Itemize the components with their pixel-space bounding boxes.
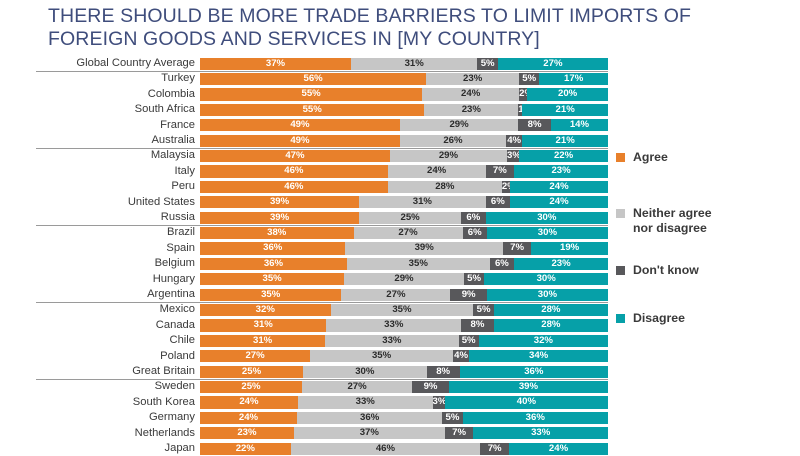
chart-segment-value: 23% [426, 73, 519, 85]
chart-segment-disagree: 22% [519, 150, 608, 162]
chart-segment-value: 37% [294, 427, 445, 439]
chart-segment-disagree: 24% [510, 181, 608, 193]
chart-segment-value: 24% [510, 181, 608, 193]
chart-segment-dontknow: 6% [463, 227, 487, 239]
chart-segment-disagree: 21% [522, 104, 608, 116]
chart-segment-value: 29% [344, 273, 464, 285]
chart-bar-track: 35%29%5%30% [200, 273, 608, 285]
chart-segment-value: 35% [200, 273, 344, 285]
chart-row-label: Sweden [40, 379, 195, 394]
chart-segment-value: 33% [326, 319, 461, 331]
chart-segment-value: 31% [359, 196, 485, 208]
chart-segment-value: 33% [473, 427, 608, 439]
chart-segment-agree: 47% [200, 150, 390, 162]
chart-segment-agree: 25% [200, 366, 303, 378]
chart-segment-neither: 29% [344, 273, 464, 285]
chart-segment-value: 30% [303, 366, 427, 378]
legend-item[interactable]: Disagree [616, 311, 685, 326]
chart-segment-value: 6% [486, 196, 510, 208]
chart-segment-value: 49% [200, 135, 400, 147]
chart-row: Colombia55%24%2%20% [0, 87, 620, 102]
chart-segment-value: 28% [494, 304, 608, 316]
chart-row: Spain36%39%7%19% [0, 241, 620, 256]
chart-segment-value: 24% [422, 88, 519, 100]
chart-bar-track: 46%24%7%23% [200, 165, 608, 177]
legend-item-label: Don't know [633, 263, 699, 278]
chart-segment-value: 31% [200, 319, 326, 331]
legend-swatch-disagree [616, 314, 625, 323]
chart-segment-value: 46% [200, 181, 388, 193]
chart-bar-track: 36%35%6%23% [200, 258, 608, 270]
chart-segment-value: 23% [514, 165, 608, 177]
chart-segment-value: 46% [200, 165, 388, 177]
chart-segment-value: 49% [200, 119, 400, 131]
chart-segment-agree: 35% [200, 273, 344, 285]
chart-segment-disagree: 28% [494, 319, 608, 331]
chart-bar-track: 38%27%6%30% [200, 227, 608, 239]
chart-row: Poland27%35%4%34% [0, 349, 620, 364]
chart-segment-disagree: 34% [469, 350, 608, 362]
chart-segment-disagree: 14% [551, 119, 608, 131]
chart-row-label: Brazil [40, 225, 195, 240]
chart-segment-value: 2% [519, 88, 527, 100]
chart-segment-disagree: 36% [460, 366, 608, 378]
chart-segment-neither: 35% [310, 350, 453, 362]
chart-segment-dontknow: 5% [519, 73, 539, 85]
chart-segment-neither: 29% [400, 119, 518, 131]
legend-item-label: Neither agree nor disagree [633, 206, 712, 235]
chart-segment-disagree: 33% [473, 427, 608, 439]
chart-bar-track: 22%46%7%24% [200, 443, 608, 455]
chart-segment-agree: 24% [200, 396, 298, 408]
chart-row: Mexico32%35%5%28% [0, 302, 620, 317]
chart-segment-value: 6% [463, 227, 487, 239]
chart-row: Sweden25%27%9%39% [0, 379, 620, 394]
chart-segment-agree: 35% [200, 289, 341, 301]
chart-bar-track: 37%31%5%27% [200, 58, 608, 70]
chart-segment-neither: 24% [388, 165, 486, 177]
chart-segment-value: 32% [479, 335, 608, 347]
legend-item-label: Disagree [633, 311, 685, 326]
chart-segment-neither: 36% [297, 412, 442, 424]
chart-bar-track: 32%35%5%28% [200, 304, 608, 316]
chart-segment-dontknow: 2% [519, 88, 527, 100]
chart-segment-value: 37% [200, 58, 351, 70]
chart-segment-disagree: 30% [487, 289, 608, 301]
chart-segment-value: 36% [463, 412, 608, 424]
chart-segment-value: 55% [200, 104, 424, 116]
chart-segment-disagree: 21% [522, 135, 608, 147]
chart-segment-disagree: 20% [527, 88, 608, 100]
chart-segment-dontknow: 8% [518, 119, 551, 131]
chart-bar-track: 25%30%8%36% [200, 366, 608, 378]
chart-segment-value: 35% [310, 350, 453, 362]
chart-row: Russia39%25%6%30% [0, 210, 620, 225]
chart-segment-value: 5% [519, 73, 539, 85]
chart-segment-value: 39% [200, 196, 359, 208]
chart-row-label: Russia [40, 210, 195, 225]
chart-row-label: Hungary [40, 272, 195, 287]
chart-row-label: South Korea [40, 395, 195, 410]
chart-segment-value: 2% [502, 181, 510, 193]
chart-segment-value: 33% [325, 335, 458, 347]
chart-segment-disagree: 28% [494, 304, 608, 316]
chart-row-label: Japan [40, 441, 195, 456]
chart-segment-value: 28% [494, 319, 608, 331]
legend-swatch-neither [616, 209, 625, 218]
chart-segment-neither: 23% [426, 73, 519, 85]
chart-segment-dontknow: 7% [503, 242, 531, 254]
chart-segment-value: 23% [424, 104, 518, 116]
chart-segment-value: 35% [331, 304, 474, 316]
chart-segment-value: 6% [461, 212, 485, 224]
chart-segment-neither: 27% [341, 289, 450, 301]
chart-segment-value: 39% [449, 381, 608, 393]
chart-segment-value: 28% [388, 181, 502, 193]
chart-segment-neither: 46% [291, 443, 481, 455]
chart-segment-value: 25% [200, 366, 303, 378]
chart-segment-neither: 35% [347, 258, 490, 270]
chart-segment-agree: 36% [200, 258, 347, 270]
chart-segment-value: 30% [486, 212, 608, 224]
chart-segment-value: 39% [200, 212, 359, 224]
chart-segment-disagree: 32% [479, 335, 608, 347]
chart-row: Argentina35%27%9%30% [0, 287, 620, 302]
chart-segment-dontknow: 5% [473, 304, 493, 316]
chart-segment-agree: 27% [200, 350, 310, 362]
chart-row: Turkey56%23%5%17% [0, 71, 620, 86]
chart-row: Hungary35%29%5%30% [0, 272, 620, 287]
chart-segment-value: 24% [200, 412, 297, 424]
chart-segment-dontknow: 3% [507, 150, 519, 162]
chart-segment-dontknow: 5% [459, 335, 479, 347]
chart-segment-dontknow: 8% [461, 319, 494, 331]
chart-segment-neither: 27% [354, 227, 463, 239]
chart-segment-value: 36% [200, 242, 345, 254]
chart-segment-value: 27% [302, 381, 412, 393]
chart-bar-track: 49%29%8%14% [200, 119, 608, 131]
chart-segment-neither: 37% [294, 427, 445, 439]
chart-segment-value: 8% [427, 366, 460, 378]
chart-row: Belgium36%35%6%23% [0, 256, 620, 271]
chart-row: Malaysia47%29%3%22% [0, 148, 620, 163]
chart-segment-agree: 49% [200, 119, 400, 131]
chart-segment-value: 25% [359, 212, 461, 224]
chart-row: Peru46%28%2%24% [0, 179, 620, 194]
chart-segment-dontknow: 2% [502, 181, 510, 193]
chart-row: France49%29%8%14% [0, 118, 620, 133]
chart-row-label: Netherlands [40, 426, 195, 441]
chart-row-label: Argentina [40, 287, 195, 302]
chart-segment-value: 38% [200, 227, 354, 239]
chart-row: South Africa55%23%1%21% [0, 102, 620, 117]
chart-segment-disagree: 36% [463, 412, 608, 424]
chart-row-label: France [40, 118, 195, 133]
chart-segment-value: 35% [347, 258, 490, 270]
chart-row-label: Peru [40, 179, 195, 194]
chart-row: Italy46%24%7%23% [0, 164, 620, 179]
chart-segment-value: 5% [477, 58, 497, 70]
chart-root: THERE SHOULD BE MORE TRADE BARRIERS TO L… [0, 0, 800, 450]
chart-segment-value: 26% [400, 135, 506, 147]
chart-segment-neither: 30% [303, 366, 427, 378]
legend-swatch-dontknow [616, 266, 625, 275]
chart-segment-dontknow: 6% [461, 212, 485, 224]
chart-row: Brazil38%27%6%30% [0, 225, 620, 240]
chart-row-label: Belgium [40, 256, 195, 271]
chart-row-label: Colombia [40, 87, 195, 102]
chart-segment-neither: 24% [422, 88, 519, 100]
chart-row: Canada31%33%8%28% [0, 318, 620, 333]
chart-segment-disagree: 23% [514, 165, 608, 177]
chart-segment-value: 36% [200, 258, 347, 270]
chart-segment-agree: 39% [200, 196, 359, 208]
chart-segment-value: 19% [531, 242, 608, 254]
chart-segment-value: 40% [445, 396, 608, 408]
chart-segment-neither: 29% [390, 150, 507, 162]
chart-segment-value: 21% [522, 135, 608, 147]
chart-segment-neither: 31% [359, 196, 485, 208]
chart-row: South Korea24%33%3%40% [0, 395, 620, 410]
chart-segment-agree: 37% [200, 58, 351, 70]
chart-segment-dontknow: 6% [490, 258, 514, 270]
chart-segment-neither: 33% [325, 335, 458, 347]
chart-segment-value: 27% [200, 350, 310, 362]
chart-bar-track: 31%33%8%28% [200, 319, 608, 331]
chart-segment-disagree: 24% [510, 196, 608, 208]
chart-segment-value: 23% [514, 258, 608, 270]
chart-segment-value: 23% [200, 427, 294, 439]
chart-segment-value: 5% [464, 273, 485, 285]
chart-bar-track: 36%39%7%19% [200, 242, 608, 254]
chart-segment-value: 29% [400, 119, 518, 131]
chart-segment-disagree: 30% [487, 227, 608, 239]
chart-segment-agree: 38% [200, 227, 354, 239]
chart-segment-agree: 46% [200, 165, 388, 177]
chart-segment-disagree: 17% [539, 73, 608, 85]
chart-row: Australia49%26%4%21% [0, 133, 620, 148]
chart-row: Japan22%46%7%24% [0, 441, 620, 456]
legend-item[interactable]: Agree [616, 150, 668, 165]
chart-row: United States39%31%6%24% [0, 195, 620, 210]
legend-item[interactable]: Don't know [616, 263, 699, 278]
chart-segment-disagree: 19% [531, 242, 608, 254]
chart-row-label: United States [40, 195, 195, 210]
chart-segment-value: 31% [351, 58, 477, 70]
chart-segment-dontknow: 7% [480, 443, 509, 455]
chart-bar-track: 46%28%2%24% [200, 181, 608, 193]
chart-segment-neither: 35% [331, 304, 474, 316]
chart-segment-value: 8% [461, 319, 494, 331]
chart-row-label: Great Britain [40, 364, 195, 379]
chart-segment-dontknow: 7% [445, 427, 474, 439]
chart-segment-value: 36% [460, 366, 608, 378]
chart-segment-value: 30% [484, 273, 608, 285]
chart-segment-dontknow: 7% [486, 165, 515, 177]
chart-bar-track: 31%33%5%32% [200, 335, 608, 347]
chart-segment-value: 3% [507, 150, 519, 162]
chart-segment-disagree: 30% [484, 273, 608, 285]
chart-segment-disagree: 40% [445, 396, 608, 408]
chart-segment-value: 25% [200, 381, 302, 393]
chart-segment-value: 36% [297, 412, 442, 424]
chart-segment-value: 46% [291, 443, 481, 455]
chart-segment-disagree: 39% [449, 381, 608, 393]
chart-segment-agree: 32% [200, 304, 331, 316]
chart-row-label: Australia [40, 133, 195, 148]
chart-segment-agree: 31% [200, 335, 325, 347]
chart-segment-value: 4% [506, 135, 522, 147]
chart-segment-value: 6% [490, 258, 514, 270]
chart-segment-dontknow: 9% [412, 381, 449, 393]
chart-row: Great Britain25%30%8%36% [0, 364, 620, 379]
chart-bar-track: 47%29%3%22% [200, 150, 608, 162]
chart-row-label: Italy [40, 164, 195, 179]
chart-row-label: South Africa [40, 102, 195, 117]
chart-row: Germany24%36%5%36% [0, 410, 620, 425]
chart-plot-area: Global Country Average37%31%5%27%Turkey5… [0, 56, 620, 444]
chart-row-label: Chile [40, 333, 195, 348]
chart-row: Chile31%33%5%32% [0, 333, 620, 348]
chart-segment-value: 7% [445, 427, 474, 439]
chart-segment-agree: 55% [200, 88, 422, 100]
chart-segment-value: 24% [509, 443, 608, 455]
chart-segment-value: 34% [469, 350, 608, 362]
chart-segment-agree: 46% [200, 181, 388, 193]
chart-bar-track: 39%25%6%30% [200, 212, 608, 224]
chart-segment-value: 32% [200, 304, 331, 316]
chart-segment-value: 20% [527, 88, 608, 100]
chart-segment-value: 3% [433, 396, 445, 408]
chart-segment-value: 30% [487, 227, 608, 239]
chart-row-label: Poland [40, 349, 195, 364]
chart-segment-value: 30% [487, 289, 608, 301]
chart-segment-value: 27% [498, 58, 608, 70]
chart-segment-value: 5% [459, 335, 479, 347]
chart-segment-dontknow: 4% [506, 135, 522, 147]
legend-swatch-agree [616, 153, 625, 162]
chart-bar-track: 56%23%5%17% [200, 73, 608, 85]
chart-row-label: Global Country Average [40, 56, 195, 71]
chart-row-label: Turkey [40, 71, 195, 86]
chart-segment-value: 17% [539, 73, 608, 85]
chart-segment-disagree: 27% [498, 58, 608, 70]
chart-segment-agree: 22% [200, 443, 291, 455]
chart-segment-disagree: 30% [486, 212, 608, 224]
chart-segment-value: 27% [354, 227, 463, 239]
chart-segment-dontknow: 5% [442, 412, 462, 424]
chart-segment-agree: 31% [200, 319, 326, 331]
chart-segment-value: 5% [442, 412, 462, 424]
chart-segment-value: 8% [518, 119, 551, 131]
chart-bar-track: 35%27%9%30% [200, 289, 608, 301]
chart-segment-disagree: 24% [509, 443, 608, 455]
chart-bar-track: 39%31%6%24% [200, 196, 608, 208]
chart-segment-value: 24% [388, 165, 486, 177]
chart-segment-dontknow: 5% [464, 273, 485, 285]
chart-bar-track: 27%35%4%34% [200, 350, 608, 362]
chart-segment-value: 24% [510, 196, 608, 208]
chart-row-label: Mexico [40, 302, 195, 317]
chart-segment-neither: 33% [326, 319, 461, 331]
chart-row-label: Spain [40, 241, 195, 256]
chart-segment-dontknow: 8% [427, 366, 460, 378]
chart-segment-value: 14% [551, 119, 608, 131]
chart-bar-track: 23%37%7%33% [200, 427, 608, 439]
chart-bar-track: 55%23%1%21% [200, 104, 608, 116]
chart-bar-track: 24%36%5%36% [200, 412, 608, 424]
chart-segment-agree: 39% [200, 212, 359, 224]
chart-segment-value: 27% [341, 289, 450, 301]
chart-bar-track: 24%33%3%40% [200, 396, 608, 408]
chart-segment-value: 4% [453, 350, 469, 362]
chart-segment-neither: 27% [302, 381, 412, 393]
chart-row: Global Country Average37%31%5%27% [0, 56, 620, 71]
chart-segment-neither: 25% [359, 212, 461, 224]
chart-segment-value: 9% [412, 381, 449, 393]
chart-segment-value: 55% [200, 88, 422, 100]
chart-segment-value: 31% [200, 335, 325, 347]
chart-segment-neither: 26% [400, 135, 506, 147]
chart-bar-track: 55%24%2%20% [200, 88, 608, 100]
chart-segment-dontknow: 3% [433, 396, 445, 408]
chart-segment-value: 35% [200, 289, 341, 301]
chart-segment-dontknow: 4% [453, 350, 469, 362]
chart-segment-neither: 39% [345, 242, 503, 254]
chart-segment-agree: 56% [200, 73, 426, 85]
chart-segment-neither: 28% [388, 181, 502, 193]
chart-row-label: Canada [40, 318, 195, 333]
chart-segment-value: 5% [473, 304, 493, 316]
chart-segment-neither: 31% [351, 58, 477, 70]
chart-segment-agree: 55% [200, 104, 424, 116]
chart-bar-track: 49%26%4%21% [200, 135, 608, 147]
chart-segment-dontknow: 6% [486, 196, 510, 208]
chart-segment-value: 29% [390, 150, 507, 162]
chart-segment-agree: 23% [200, 427, 294, 439]
chart-segment-value: 21% [522, 104, 608, 116]
chart-row-label: Malaysia [40, 148, 195, 163]
chart-segment-agree: 24% [200, 412, 297, 424]
chart-segment-value: 7% [486, 165, 515, 177]
chart-segment-value: 7% [480, 443, 509, 455]
chart-segment-agree: 25% [200, 381, 302, 393]
chart-segment-disagree: 23% [514, 258, 608, 270]
chart-segment-value: 56% [200, 73, 426, 85]
chart-bar-track: 25%27%9%39% [200, 381, 608, 393]
chart-segment-dontknow: 5% [477, 58, 497, 70]
chart-row: Netherlands23%37%7%33% [0, 426, 620, 441]
chart-segment-value: 47% [200, 150, 390, 162]
chart-segment-neither: 33% [298, 396, 433, 408]
chart-segment-agree: 36% [200, 242, 345, 254]
chart-segment-value: 22% [519, 150, 608, 162]
chart-segment-value: 7% [503, 242, 531, 254]
chart-segment-value: 39% [345, 242, 503, 254]
chart-segment-neither: 23% [424, 104, 518, 116]
chart-segment-value: 24% [200, 396, 298, 408]
chart-segment-value: 9% [450, 289, 486, 301]
legend-item[interactable]: Neither agree nor disagree [616, 206, 712, 235]
chart-segment-agree: 49% [200, 135, 400, 147]
chart-segment-value: 22% [200, 443, 291, 455]
chart-title: THERE SHOULD BE MORE TRADE BARRIERS TO L… [48, 5, 748, 51]
legend-item-label: Agree [633, 150, 668, 165]
chart-segment-dontknow: 9% [450, 289, 486, 301]
chart-row-label: Germany [40, 410, 195, 425]
chart-segment-value: 33% [298, 396, 433, 408]
